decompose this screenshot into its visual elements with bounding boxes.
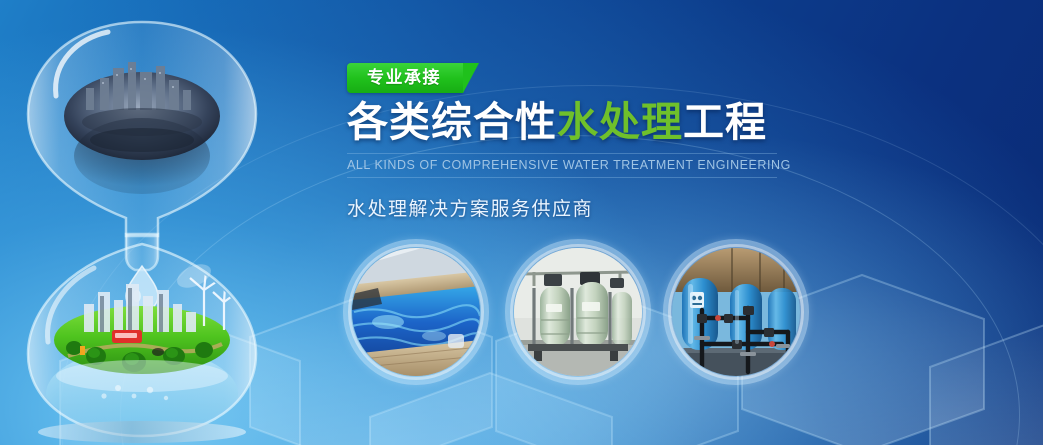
badge-professional-undertaking: 专业承接 (347, 63, 463, 93)
headline-part-1: 各类综合性 (347, 99, 557, 145)
headline-copy-block: 专业承接 各类综合性水处理工程 ALL KINDS OF COMPREHENSI… (347, 63, 777, 221)
photo-image-filtration-tanks (672, 248, 800, 376)
chinese-tagline: 水处理解决方案服务供应商 (347, 194, 777, 221)
headline-part-3: 工程 (683, 99, 767, 145)
water-treatment-hero-banner: 专业承接 各类综合性水处理工程 ALL KINDS OF COMPREHENSI… (0, 0, 1043, 445)
page-title: 各类综合性水处理工程 (347, 101, 777, 144)
photo-image-swimming-pool (352, 248, 480, 376)
photo-circle-filtration-tanks[interactable] (672, 248, 800, 376)
product-photo-row (352, 248, 812, 376)
english-subtitle: ALL KINDS OF COMPREHENSIVE WATER TREATME… (347, 153, 777, 178)
headline-part-2-highlight: 水处理 (557, 99, 683, 145)
badge-label: 专业承接 (367, 63, 441, 93)
photo-circle-swimming-pool[interactable] (352, 248, 480, 376)
hourglass-illustration (8, 4, 276, 445)
photo-circle-softener-tanks[interactable] (514, 248, 642, 376)
photo-image-softener-tanks (514, 248, 642, 376)
